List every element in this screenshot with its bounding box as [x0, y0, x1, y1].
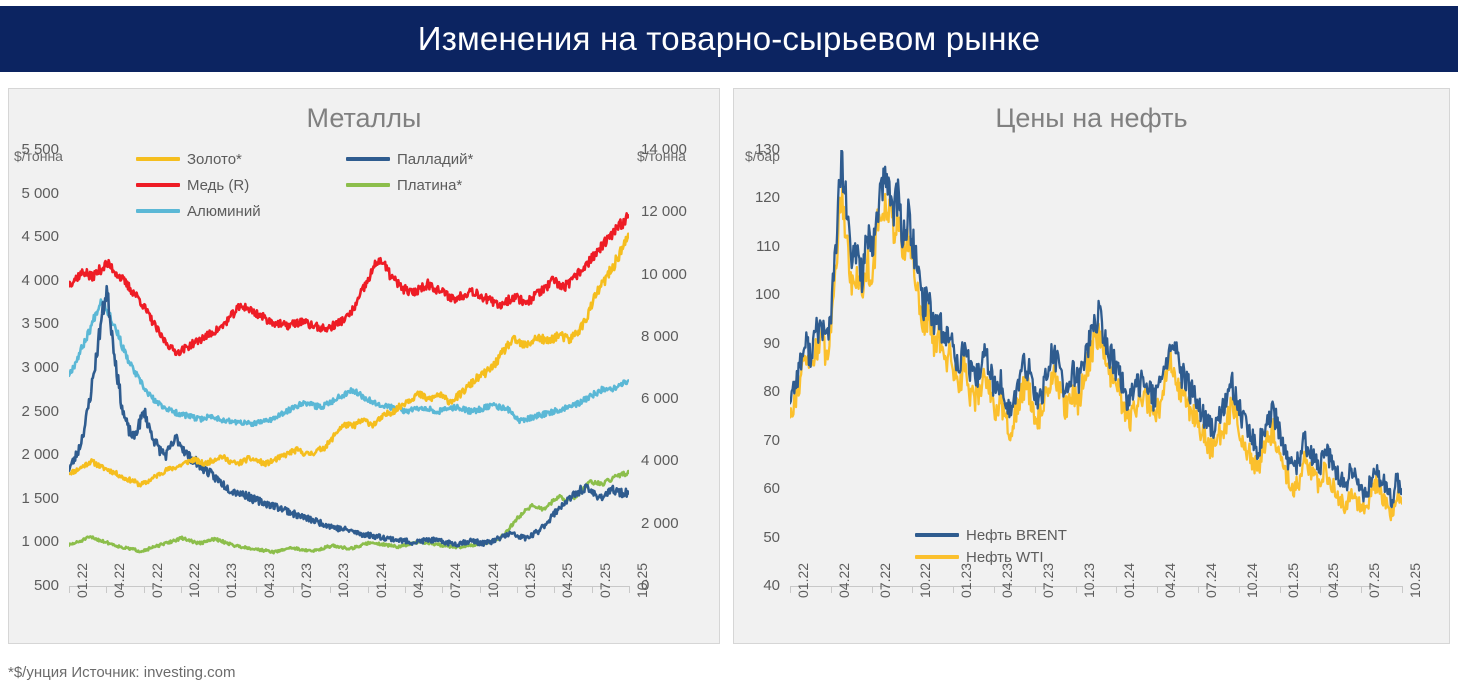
x-axis-tickmark	[144, 586, 145, 593]
x-axis-tickmark	[181, 586, 182, 593]
x-axis-tickmark	[1402, 586, 1403, 593]
x-axis-tickmark	[256, 586, 257, 593]
x-axis-tickmark	[554, 586, 555, 593]
series-line	[69, 471, 629, 553]
x-axis-tickmark	[1320, 586, 1321, 593]
axis-tick-label: 50	[740, 530, 780, 545]
x-axis-tickmark	[517, 586, 518, 593]
x-axis-tickmark	[1280, 586, 1281, 593]
axis-tick-label: 0	[641, 578, 711, 593]
x-axis-tickmark	[106, 586, 107, 593]
axis-tick-label: 5 500	[7, 142, 59, 157]
axis-tick-label: 8 000	[641, 329, 711, 344]
axis-tick-label: 6 000	[641, 391, 711, 406]
x-axis-tickmark	[480, 586, 481, 593]
oil-plot-area	[790, 150, 1402, 586]
axis-tick-label: 3 500	[7, 316, 59, 331]
x-axis-tickmark	[442, 586, 443, 593]
axis-tick-label: 1 000	[7, 534, 59, 549]
axis-tick-label: 10.25	[1408, 563, 1422, 598]
axis-tick-label: 4 000	[641, 453, 711, 468]
x-axis-tickmark	[953, 586, 954, 593]
axis-tick-label: 100	[740, 287, 780, 302]
axis-tick-label: 80	[740, 384, 780, 399]
x-axis-tickmark	[1361, 586, 1362, 593]
axis-tick-label: 110	[740, 239, 780, 254]
x-axis-tickmark	[368, 586, 369, 593]
x-axis-tickmark	[405, 586, 406, 593]
page-title: Изменения на товарно-сырьевом рынке	[418, 20, 1040, 58]
x-axis-tickmark	[1198, 586, 1199, 593]
x-axis-tickmark	[592, 586, 593, 593]
x-axis-tickmark	[872, 586, 873, 593]
axis-tick-label: 40	[740, 578, 780, 593]
x-axis-tickmark	[330, 586, 331, 593]
axis-tick-label: 500	[7, 578, 59, 593]
metals-plot-area	[69, 150, 629, 586]
axis-tick-label: 10.25	[635, 563, 649, 598]
axis-tick-label: 1 500	[7, 491, 59, 506]
axis-tick-label: 10 000	[641, 267, 711, 282]
x-axis-tickmark	[1116, 586, 1117, 593]
axis-tick-label: 4 500	[7, 229, 59, 244]
x-axis-tickmark	[994, 586, 995, 593]
series-line	[69, 213, 629, 355]
series-line	[790, 150, 1402, 507]
axis-tick-label: 70	[740, 433, 780, 448]
axis-tick-label: 130	[740, 142, 780, 157]
oil-series-svg	[790, 150, 1402, 586]
x-axis-tickmark	[293, 586, 294, 593]
axis-tick-label: 2 000	[7, 447, 59, 462]
axis-tick-label: 60	[740, 481, 780, 496]
x-axis-tickmark	[912, 586, 913, 593]
axis-tick-label: 2 500	[7, 404, 59, 419]
x-axis-tickmark	[1076, 586, 1077, 593]
x-axis-tickmark	[831, 586, 832, 593]
x-axis-tickmark	[1157, 586, 1158, 593]
x-axis-tickmark	[69, 586, 70, 593]
axis-tick-label: 2 000	[641, 516, 711, 531]
axis-tick-label: 4 000	[7, 273, 59, 288]
x-axis-tickmark	[629, 586, 630, 593]
metals-series-svg	[69, 150, 629, 586]
axis-tick-label: 3 000	[7, 360, 59, 375]
x-axis-tickmark	[1239, 586, 1240, 593]
series-line	[790, 188, 1402, 520]
axis-tick-label: 5 000	[7, 186, 59, 201]
series-line	[69, 234, 629, 486]
x-axis-tickmark	[1035, 586, 1036, 593]
source-footnote: *$/унция Источник: investing.com	[8, 664, 235, 681]
x-axis-tickmark	[790, 586, 791, 593]
header-banner: Изменения на товарно-сырьевом рынке	[0, 6, 1458, 72]
metals-chart-title: Металлы	[9, 103, 719, 134]
x-axis-tickmark	[218, 586, 219, 593]
oil-chart-title: Цены на нефть	[734, 103, 1449, 134]
axis-tick-label: 90	[740, 336, 780, 351]
axis-tick-label: 120	[740, 190, 780, 205]
commodity-market-dashboard: Изменения на товарно-сырьевом рынке Мета…	[0, 0, 1458, 693]
series-line	[69, 300, 629, 426]
